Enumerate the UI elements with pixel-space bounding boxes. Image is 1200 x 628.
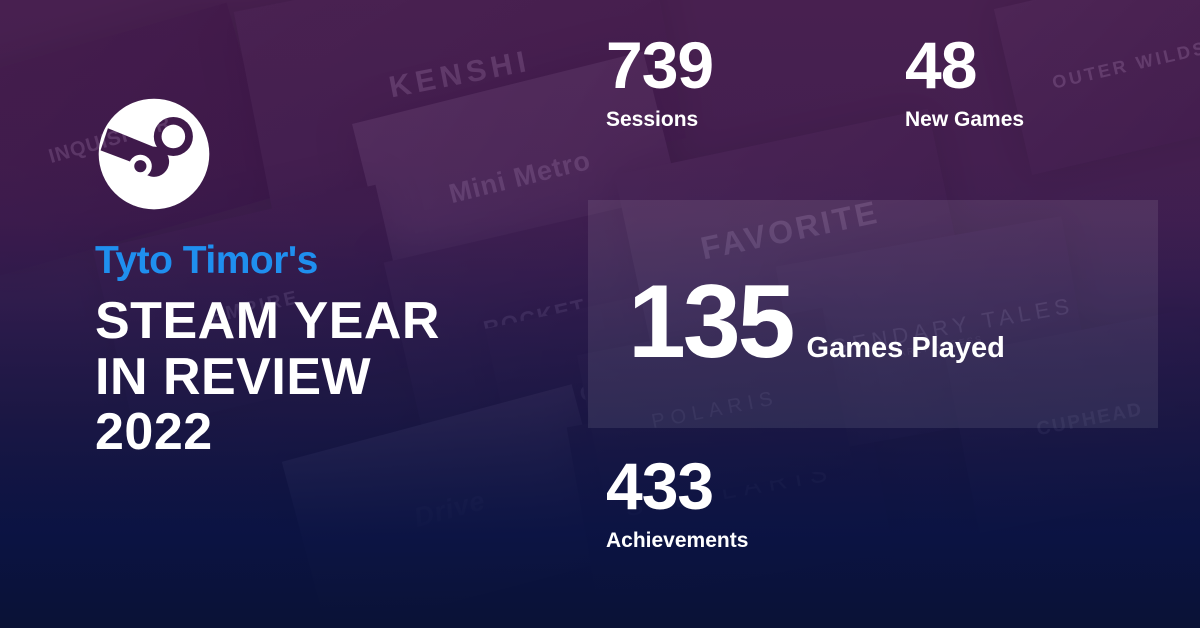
stat-games-played: 135 Games Played <box>628 273 1005 372</box>
headline-line-3: 2022 <box>95 405 565 461</box>
stat-achievements: 433 Achievements <box>606 455 748 551</box>
stat-sessions-label: Sessions <box>606 109 713 130</box>
stat-achievements-label: Achievements <box>606 530 748 551</box>
headline-line-2: IN REVIEW <box>95 350 565 406</box>
stat-new-games: 48 New Games <box>905 34 1024 130</box>
headline-line-1: STEAM YEAR <box>95 294 565 350</box>
year-in-review-card: INQUISITOR KENSHI Mini Metro EMPIRE ROCK… <box>0 0 1200 628</box>
page-title: STEAM YEAR IN REVIEW 2022 <box>95 294 565 461</box>
identity-block: Tyto Timor's STEAM YEAR IN REVIEW 2022 <box>95 95 565 461</box>
username-possessive: Tyto Timor's <box>95 241 565 280</box>
stat-sessions: 739 Sessions <box>606 34 713 130</box>
stat-achievements-value: 433 <box>606 455 748 518</box>
stat-new-games-label: New Games <box>905 109 1024 130</box>
stat-sessions-value: 739 <box>606 34 713 97</box>
stat-new-games-value: 48 <box>905 34 1024 97</box>
steam-logo-icon <box>95 95 213 213</box>
stat-games-played-value: 135 <box>628 273 793 372</box>
stat-games-played-label: Games Played <box>807 334 1005 363</box>
